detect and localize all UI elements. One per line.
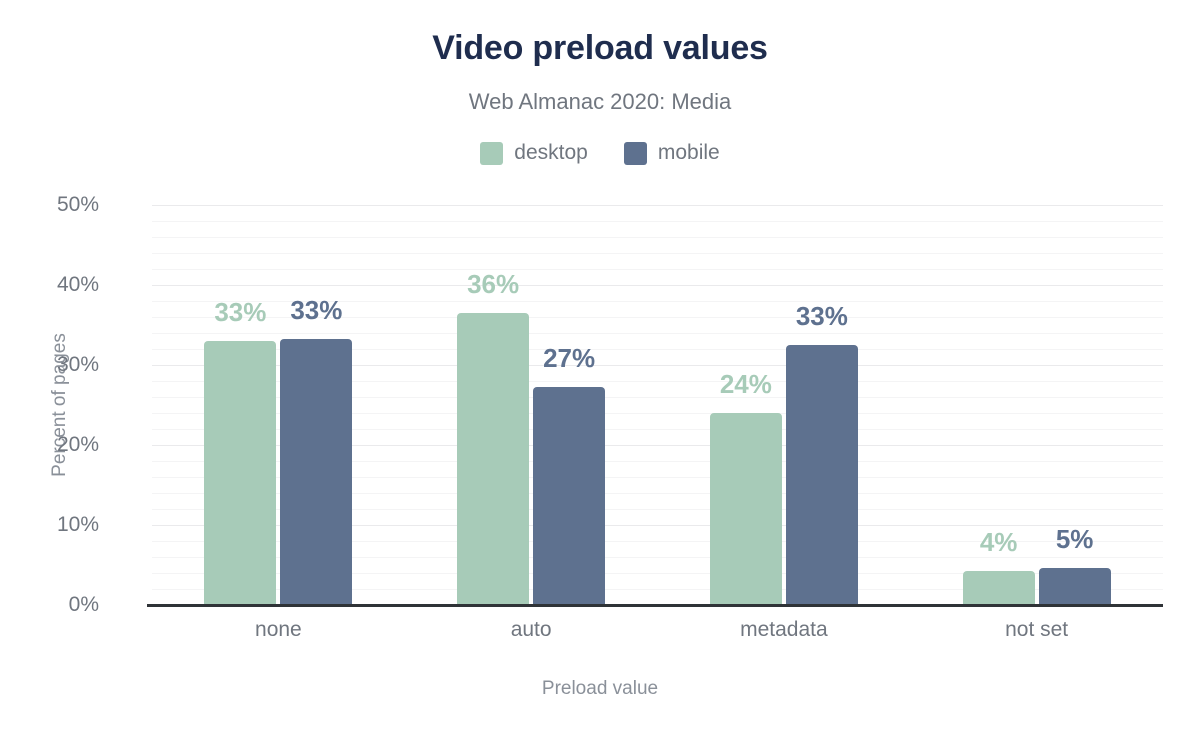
bar-mobile-auto[interactable] bbox=[533, 387, 605, 605]
bar-value-label-desktop-metadata: 24% bbox=[720, 369, 772, 400]
gridline-minor bbox=[152, 237, 1163, 238]
chart-subtitle: Web Almanac 2020: Media bbox=[0, 89, 1200, 115]
gridline-major bbox=[152, 285, 1163, 286]
bar-value-label-mobile-none: 33% bbox=[290, 295, 342, 326]
y-axis-tick: 40% bbox=[0, 273, 99, 297]
y-axis-tick: 20% bbox=[0, 433, 99, 457]
bar-value-label-desktop-none: 33% bbox=[214, 297, 266, 328]
chart-title: Video preload values bbox=[0, 29, 1200, 68]
bar-value-label-mobile-auto: 27% bbox=[543, 343, 595, 374]
legend-entry-mobile[interactable]: mobile bbox=[624, 141, 720, 165]
x-axis-tick-metadata: metadata bbox=[740, 618, 828, 642]
gridline-major bbox=[152, 205, 1163, 206]
legend-label-desktop: desktop bbox=[514, 141, 588, 165]
bar-desktop-auto[interactable] bbox=[457, 313, 529, 605]
chart-legend: desktopmobile bbox=[0, 141, 1200, 165]
bar-value-label-desktop-auto: 36% bbox=[467, 269, 519, 300]
bar-value-label-mobile-metadata: 33% bbox=[796, 301, 848, 332]
legend-entry-desktop[interactable]: desktop bbox=[480, 141, 588, 165]
bar-desktop-not-set[interactable] bbox=[963, 571, 1035, 605]
gridline-minor bbox=[152, 221, 1163, 222]
bar-desktop-metadata[interactable] bbox=[710, 413, 782, 605]
legend-label-mobile: mobile bbox=[658, 141, 720, 165]
x-axis-tick-auto: auto bbox=[511, 618, 552, 642]
legend-swatch-desktop bbox=[480, 142, 503, 165]
plot-area: Percent of pages 0%10%20%30%40%50%33%33%… bbox=[152, 205, 1163, 605]
y-axis-label: Percent of pages bbox=[49, 285, 71, 525]
bar-mobile-not-set[interactable] bbox=[1039, 568, 1111, 605]
y-axis-tick: 10% bbox=[0, 513, 99, 537]
bar-mobile-metadata[interactable] bbox=[786, 345, 858, 605]
x-axis-tick-not-set: not set bbox=[1005, 618, 1068, 642]
chart-container: Video preload values Web Almanac 2020: M… bbox=[0, 0, 1200, 742]
x-axis-baseline bbox=[147, 604, 1163, 607]
bar-mobile-none[interactable] bbox=[280, 339, 352, 605]
gridline-minor bbox=[152, 333, 1163, 334]
legend-swatch-mobile bbox=[624, 142, 647, 165]
bar-value-label-desktop-not-set: 4% bbox=[980, 527, 1018, 558]
x-axis-tick-none: none bbox=[255, 618, 302, 642]
y-axis-tick: 30% bbox=[0, 353, 99, 377]
x-axis-label: Preload value bbox=[0, 678, 1200, 700]
bar-value-label-mobile-not-set: 5% bbox=[1056, 524, 1094, 555]
y-axis-tick: 50% bbox=[0, 193, 99, 217]
gridline-minor bbox=[152, 253, 1163, 254]
gridline-minor bbox=[152, 269, 1163, 270]
y-axis-tick: 0% bbox=[0, 593, 99, 617]
bar-desktop-none[interactable] bbox=[204, 341, 276, 605]
